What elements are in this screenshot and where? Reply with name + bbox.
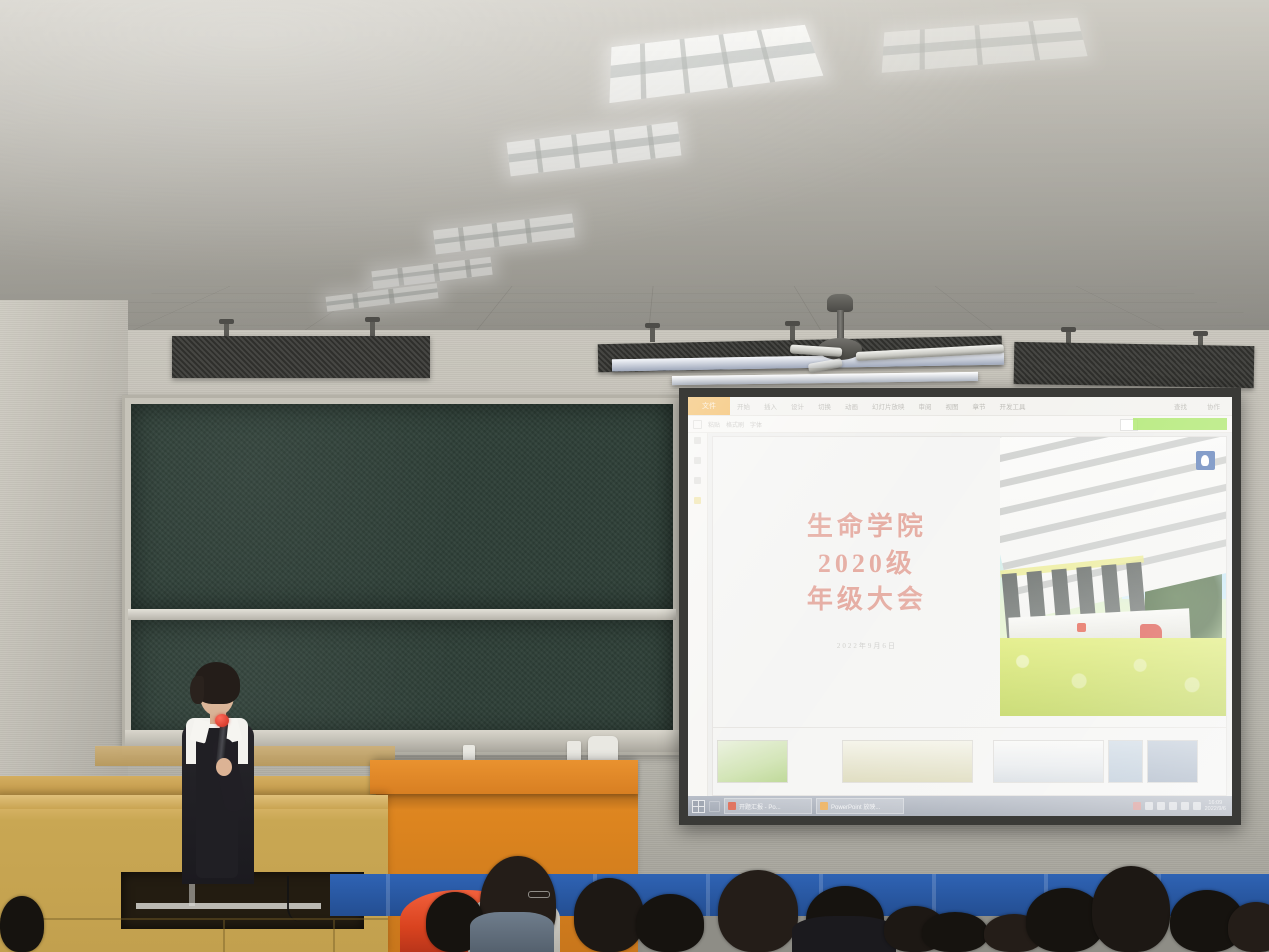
slide-title-line-1: 生命学院: [754, 509, 980, 546]
thumbnail-icon-1[interactable]: [694, 437, 701, 444]
slide[interactable]: 生命学院 2020级 年级大会 2022年9月6日: [712, 436, 1227, 796]
slide-thumbnail-rail[interactable]: [688, 433, 708, 796]
audience-shoulders: [792, 916, 896, 952]
hanging-light-fixture-left: [172, 336, 430, 378]
ribbon-tab-4[interactable]: 动画: [838, 401, 865, 411]
paste-icon[interactable]: [693, 420, 702, 429]
fixture-mount-rod: [650, 326, 655, 342]
audience-head: [1228, 902, 1269, 952]
chalkboard-divider-rail: [128, 609, 676, 620]
ribbon-tab-6[interactable]: 审阅: [912, 401, 939, 411]
wps-workspace: 生命学院 2020级 年级大会 2022年9月6日: [688, 433, 1232, 796]
ribbon-tab-5[interactable]: 幻灯片放映: [865, 401, 912, 411]
audience-head: [1092, 866, 1170, 952]
ribbon-tab-1[interactable]: 插入: [757, 401, 784, 411]
ribbon-find-label[interactable]: 查找: [1167, 401, 1194, 411]
photo-hedge: [1000, 638, 1226, 716]
filmstrip-thumb-5[interactable]: [1147, 740, 1198, 784]
wps-ribbon: 文件 开始 插入 设计 切换 动画 幻灯片放映 审阅 视图 章节 开发工具 查找…: [688, 397, 1232, 416]
lectern-top-surface: [370, 760, 638, 794]
filmstrip-thumb-4[interactable]: [1108, 740, 1143, 784]
audience: [0, 802, 1269, 952]
slide-title-block: 生命学院 2020级 年级大会 2022年9月6日: [754, 509, 980, 652]
ribbon-tab-8[interactable]: 章节: [966, 401, 993, 411]
filmstrip-thumb-3[interactable]: [993, 740, 1104, 784]
audience-glasses: [528, 891, 550, 898]
campus-building-photo: [1000, 437, 1226, 716]
toolbar-item-2[interactable]: 字体: [750, 420, 762, 429]
photo-flag-small: [1077, 623, 1086, 632]
toolbar-item-1[interactable]: 格式刷: [726, 420, 744, 429]
lightbulb-icon[interactable]: [1196, 451, 1215, 470]
hanging-light-fixture-right: [1014, 342, 1255, 388]
thumbnail-icon-2[interactable]: [694, 457, 701, 464]
left-wall: [0, 300, 128, 820]
audience-head: [574, 878, 644, 952]
projection-screen: 文件 开始 插入 设计 切换 动画 幻灯片放映 审阅 视图 章节 开发工具 查找…: [679, 388, 1241, 825]
thumbnail-icon-3[interactable]: [694, 477, 701, 484]
ceiling: [0, 0, 1269, 345]
presenter-hand: [216, 758, 232, 776]
ceiling-light-wash: [0, 0, 1269, 345]
slide-title-line-3: 年级大会: [754, 582, 980, 619]
ribbon-tab-7[interactable]: 视图: [939, 401, 966, 411]
audience-shirt: [470, 912, 554, 952]
slide-title-line-2: 2020级: [754, 546, 980, 583]
ribbon-collab-label[interactable]: 协作: [1200, 401, 1227, 411]
fixture-mount-rod: [790, 324, 795, 340]
table-item-bottle: [567, 741, 581, 761]
filmstrip-thumb-1[interactable]: [717, 740, 788, 784]
wall-texture: [0, 300, 128, 820]
chalkboard-panel-upper: [131, 404, 673, 609]
ribbon-file-menu[interactable]: 文件: [688, 397, 730, 415]
ceiling-fan-downrod: [837, 310, 844, 340]
projected-desktop: 文件 开始 插入 设计 切换 动画 幻灯片放映 审阅 视图 章节 开发工具 查找…: [688, 397, 1232, 816]
ribbon-tab-2[interactable]: 设计: [784, 401, 811, 411]
thumbnail-icon-4[interactable]: [694, 497, 701, 504]
filmstrip-thumb-2[interactable]: [842, 740, 973, 784]
lecture-hall-scene: 文件 开始 插入 设计 切换 动画 幻灯片放映 审阅 视图 章节 开发工具 查找…: [0, 0, 1269, 952]
table-item-cup: [463, 745, 475, 761]
ribbon-tab-3[interactable]: 切换: [811, 401, 838, 411]
presenter-hair: [194, 662, 240, 704]
table-item-box: [588, 736, 618, 760]
microphone-head: [215, 714, 229, 727]
slide-image-filmstrip: [713, 727, 1226, 795]
toolbar-item-0[interactable]: 粘贴: [708, 420, 720, 429]
audience-head: [0, 896, 44, 952]
ribbon-tab-9[interactable]: 开发工具: [993, 401, 1033, 411]
audience-head: [718, 870, 798, 952]
slide-date: 2022年9月6日: [754, 641, 980, 651]
ribbon-right-group: 查找 协作: [1167, 401, 1232, 411]
audience-head: [636, 894, 704, 952]
toolbar-highlight-bar: [1133, 418, 1227, 430]
fixture-mount-rod: [370, 320, 375, 336]
slide-canvas-area: 生命学院 2020级 年级大会 2022年9月6日: [708, 433, 1232, 796]
wps-toolbar: 粘贴 格式刷 字体: [688, 416, 1232, 433]
audience-head: [922, 912, 988, 952]
ribbon-tab-0[interactable]: 开始: [730, 401, 757, 411]
